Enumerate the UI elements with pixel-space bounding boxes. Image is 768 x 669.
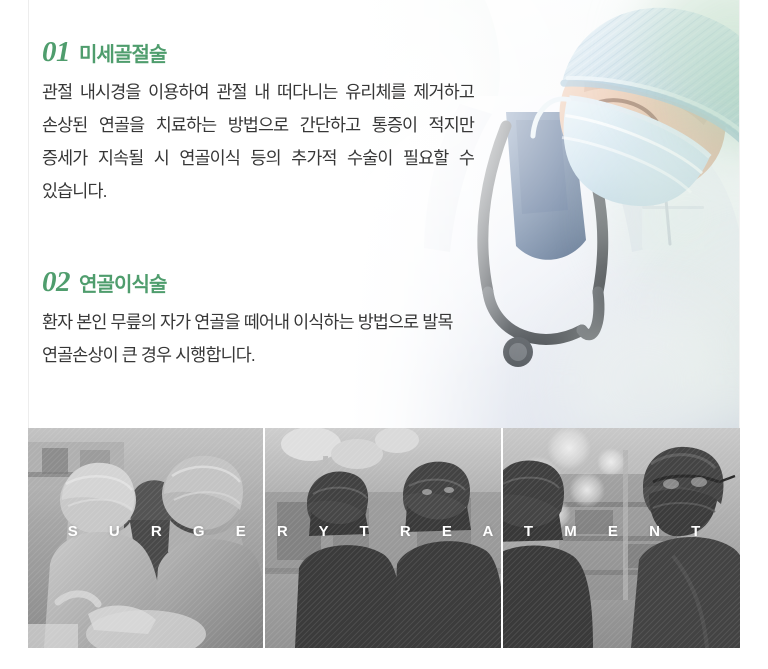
section-2-title: 연골이식술	[79, 275, 167, 295]
section-2-body: 환자 본인 무릎의 자가 연골을 떼어내 이식하는 방법으로 발목 연골손상이 …	[42, 306, 494, 372]
promo-page: 01 미세골절술 관절 내시경을 이용하여 관절 내 떠다니는 유리체를 제거하…	[0, 0, 768, 669]
section-1-heading: 01 미세골절술	[42, 38, 494, 67]
section-block-1: 01 미세골절술 관절 내시경을 이용하여 관절 내 떠다니는 유리체를 제거하…	[42, 38, 494, 208]
content-card: 01 미세골절술 관절 내시경을 이용하여 관절 내 떠다니는 유리체를 제거하…	[28, 0, 740, 428]
strip-caption: S U R G E R Y T R E A T M E N T	[28, 524, 740, 539]
section-2-number: 02	[42, 268, 70, 297]
section-block-2: 02 연골이식술 환자 본인 무릎의 자가 연골을 떼어내 이식하는 방법으로 …	[42, 268, 494, 372]
card-right-rule	[739, 0, 740, 428]
text-column: 01 미세골절술 관절 내시경을 이용하여 관절 내 떠다니는 유리체를 제거하…	[42, 0, 494, 428]
section-1-title: 미세골절술	[79, 45, 167, 65]
section-1-number: 01	[42, 38, 70, 67]
section-1-body: 관절 내시경을 이용하여 관절 내 떠다니는 유리체를 제거하고 손상된 연골을…	[42, 76, 474, 208]
card-left-rule	[28, 0, 29, 428]
section-2-heading: 02 연골이식술	[42, 268, 494, 297]
